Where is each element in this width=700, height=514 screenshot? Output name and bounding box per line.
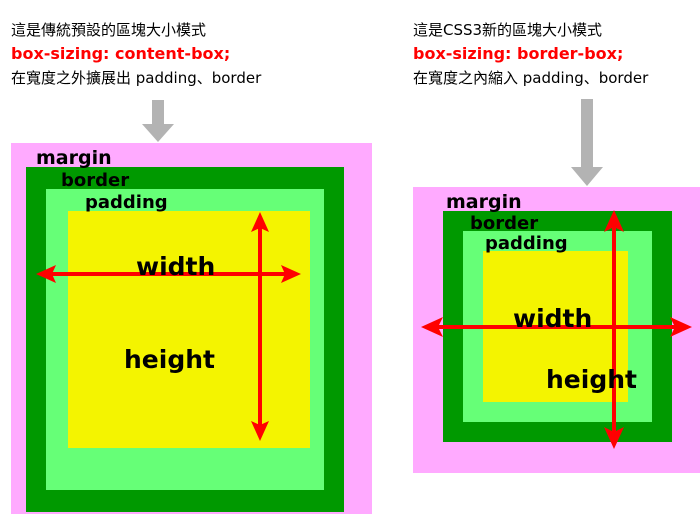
width-label: width — [136, 254, 215, 279]
left-caption-line-1: 這是傳統預設的區塊大小模式 — [11, 18, 261, 42]
right-caption-line-3: 在寬度之內縮入 padding、border — [413, 66, 648, 90]
content-box-diagram: margin border padding width height — [11, 143, 372, 514]
right-caption-code: box-sizing: border-box; — [413, 42, 648, 66]
left-caption-code: box-sizing: content-box; — [11, 42, 261, 66]
diagram-canvas: 這是傳統預設的區塊大小模式 box-sizing: content-box; 在… — [0, 0, 700, 514]
dimension-arrows — [11, 143, 372, 514]
left-flow-down-arrow-icon — [140, 100, 176, 143]
right-caption-block: 這是CSS3新的區塊大小模式 box-sizing: border-box; 在… — [413, 18, 648, 90]
height-label: height — [546, 367, 637, 392]
right-caption-line-1: 這是CSS3新的區塊大小模式 — [413, 18, 648, 42]
width-label: width — [513, 306, 592, 331]
right-flow-down-arrow-icon — [569, 99, 605, 187]
border-box-diagram: margin border padding width height — [413, 187, 700, 473]
height-label: height — [124, 347, 215, 372]
left-caption-block: 這是傳統預設的區塊大小模式 box-sizing: content-box; 在… — [11, 18, 261, 90]
left-caption-line-3: 在寬度之外擴展出 padding、border — [11, 66, 261, 90]
